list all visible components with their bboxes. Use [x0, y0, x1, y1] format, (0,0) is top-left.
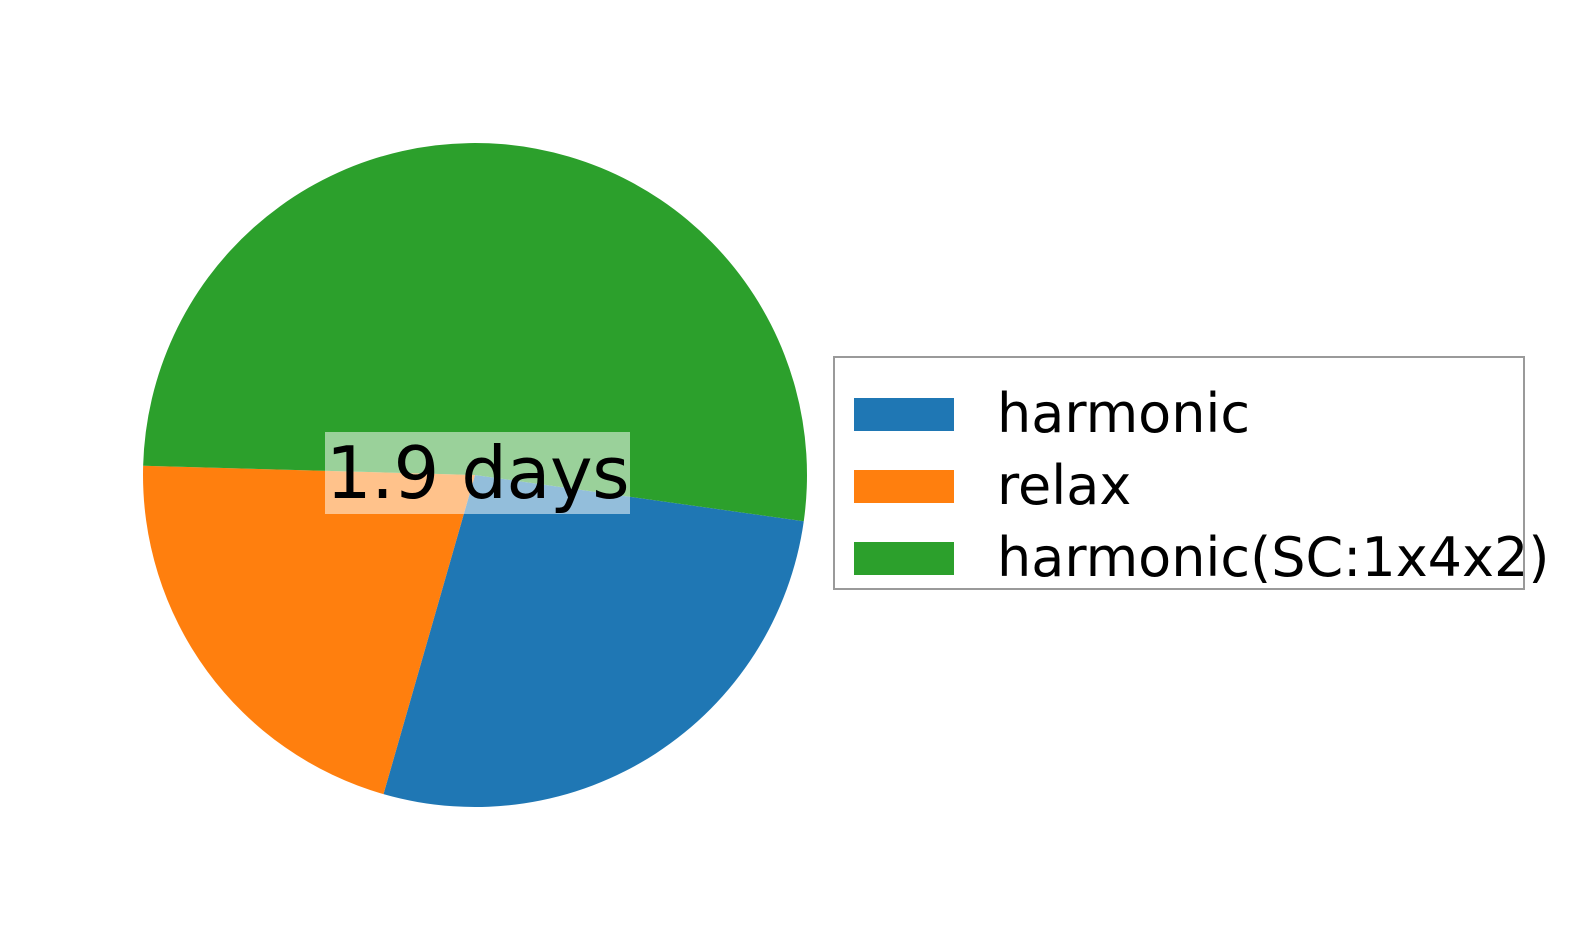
legend: harmonicrelaxharmonic(SC:1x4x2): [833, 356, 1525, 590]
legend-entry[interactable]: relax: [854, 450, 1523, 522]
legend-entry[interactable]: harmonic: [854, 378, 1523, 450]
pie-center-total-label: 1.9 days: [325, 432, 630, 514]
legend-color-swatch: [854, 470, 954, 503]
legend-color-swatch: [854, 542, 954, 575]
legend-entries: harmonicrelaxharmonic(SC:1x4x2): [835, 358, 1523, 588]
legend-label: harmonic(SC:1x4x2): [997, 531, 1549, 585]
pie-chart-figure: 1.9 days harmonicrelaxharmonic(SC:1x4x2): [0, 0, 1585, 951]
legend-label: relax: [997, 459, 1131, 513]
legend-color-swatch: [854, 398, 954, 431]
legend-entry[interactable]: harmonic(SC:1x4x2): [854, 522, 1523, 594]
legend-label: harmonic: [997, 387, 1250, 441]
